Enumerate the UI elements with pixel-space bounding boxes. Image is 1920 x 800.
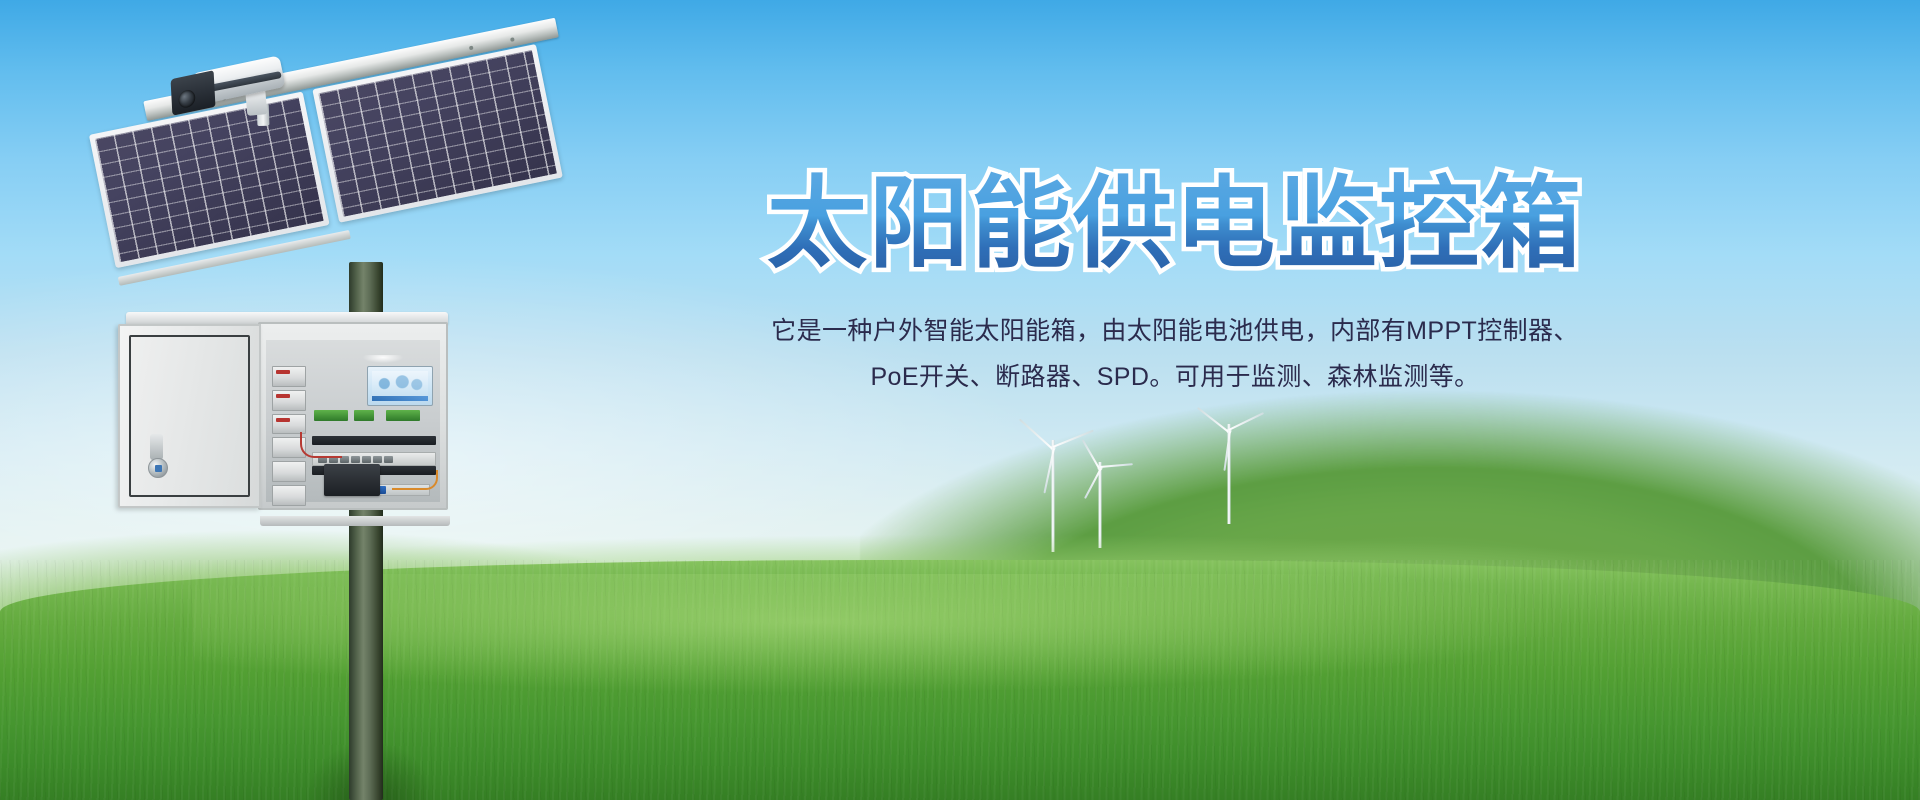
door-handle [150, 434, 163, 460]
terminal-block [386, 410, 420, 421]
subtitle-line-2: PoE开关、断路器、SPD。可用于监测、森林监测等。 [620, 354, 1730, 400]
cabinet-base [260, 516, 450, 526]
wind-turbine-3 [1203, 424, 1255, 524]
door-lock-icon [148, 458, 168, 478]
camera-sunshade [171, 70, 216, 116]
terminal-block [354, 410, 374, 421]
subtitle-line-1: 它是一种户外智能太阳能箱，由太阳能电池供电，内部有MPPT控制器、 [620, 308, 1730, 354]
circuit-breaker [272, 366, 306, 387]
solar-power-cabinet-banner: 太阳能供电监控箱 太阳能供电监控箱 它是一种户外智能太阳能箱，由太阳能电池供电，… [0, 0, 1920, 800]
rail-bolt [469, 46, 474, 51]
grass-highlight [192, 574, 1574, 694]
banner-subtitle: 它是一种户外智能太阳能箱，由太阳能电池供电，内部有MPPT控制器、 PoE开关、… [620, 308, 1730, 401]
battery [324, 464, 380, 496]
cabinet-door [118, 324, 261, 508]
foreground-meadow [0, 560, 1920, 800]
interior-lamp-icon [363, 355, 403, 363]
banner-text-block: 太阳能供电监控箱 太阳能供电监控箱 它是一种户外智能太阳能箱，由太阳能电池供电，… [620, 170, 1730, 401]
terminal-block [314, 410, 348, 421]
ethernet-port [351, 456, 360, 463]
circuit-breaker [272, 461, 306, 482]
cabinet-enclosure [258, 322, 448, 510]
red-wire [300, 432, 342, 458]
circuit-breaker [272, 390, 306, 411]
headline-wrap: 太阳能供电监控箱 太阳能供电监控箱 [767, 170, 1583, 278]
ethernet-port [362, 456, 371, 463]
circuit-breaker [272, 485, 306, 506]
rail-bolt [510, 37, 515, 42]
orange-wire [392, 470, 438, 490]
page-title: 太阳能供电监控箱 [767, 170, 1583, 278]
mppt-controller-display [367, 366, 433, 406]
cabinet-interior [266, 340, 440, 502]
solar-power-monitoring-cabinet [118, 312, 454, 520]
ethernet-port [384, 456, 393, 463]
camera-lens-icon [178, 89, 196, 110]
ethernet-port [373, 456, 382, 463]
display-status-bar [372, 396, 428, 401]
